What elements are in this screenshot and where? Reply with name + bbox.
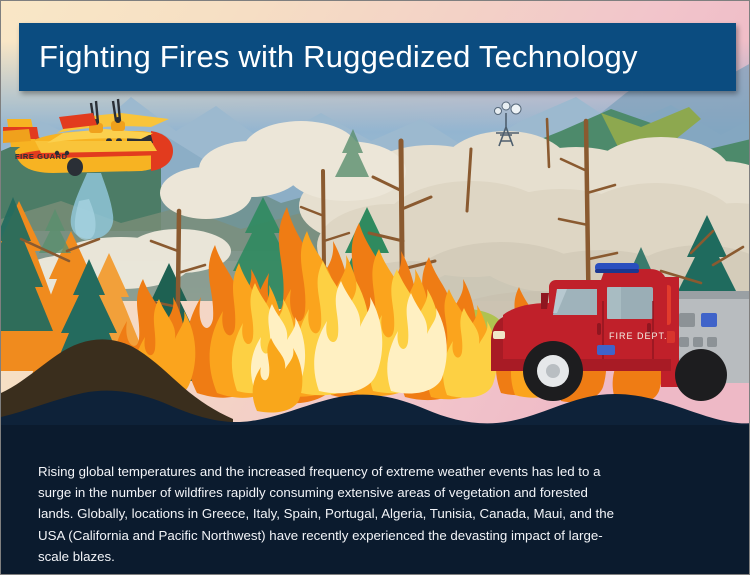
airplane-label: FIRE GUARD [15, 152, 68, 161]
infographic-slide: FIRE DEPT. [0, 0, 750, 575]
title-banner: Fighting Fires with Ruggedized Technolog… [19, 23, 736, 91]
caption-paragraph: Rising global temperatures and the incre… [38, 461, 623, 567]
page-title: Fighting Fires with Ruggedized Technolog… [19, 40, 638, 74]
caption-panel: Rising global temperatures and the incre… [1, 425, 750, 575]
caption-body: Rising global temperatures and the incre… [38, 461, 623, 567]
